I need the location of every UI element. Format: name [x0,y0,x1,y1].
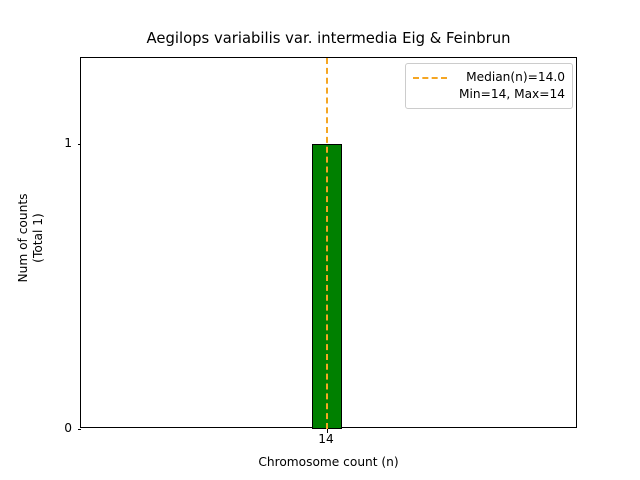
legend[interactable]: Median(n)=14.0 Min=14, Max=14 [405,63,573,109]
xtick-label-14: 14 [296,433,356,445]
legend-label-median: Median(n)=14.0 [466,69,565,86]
ytick-label-0: 0 [12,422,72,434]
median-line [326,58,328,429]
plot-area: Median(n)=14.0 Min=14, Max=14 [80,57,577,428]
legend-marker-median [413,69,453,86]
ytick-label-1: 1 [12,137,72,149]
legend-label-minmax: Min=14, Max=14 [459,86,565,103]
xtick-mark-14 [327,429,328,433]
y-axis-label: Num of counts (Total 1) [15,48,47,428]
dashed-line-icon [413,77,447,79]
ytick-mark-1 [78,144,82,145]
y-axis-label-line1: Num of counts [16,194,31,283]
chart-title: Aegilops variabilis var. intermedia Eig … [80,30,577,48]
y-axis-label-line2: (Total 1) [31,213,46,263]
ytick-mark-0 [78,429,82,430]
figure-canvas: Aegilops variabilis var. intermedia Eig … [0,0,640,480]
x-axis-label: Chromosome count (n) [80,455,577,469]
legend-text: Median(n)=14.0 Min=14, Max=14 [453,69,565,103]
